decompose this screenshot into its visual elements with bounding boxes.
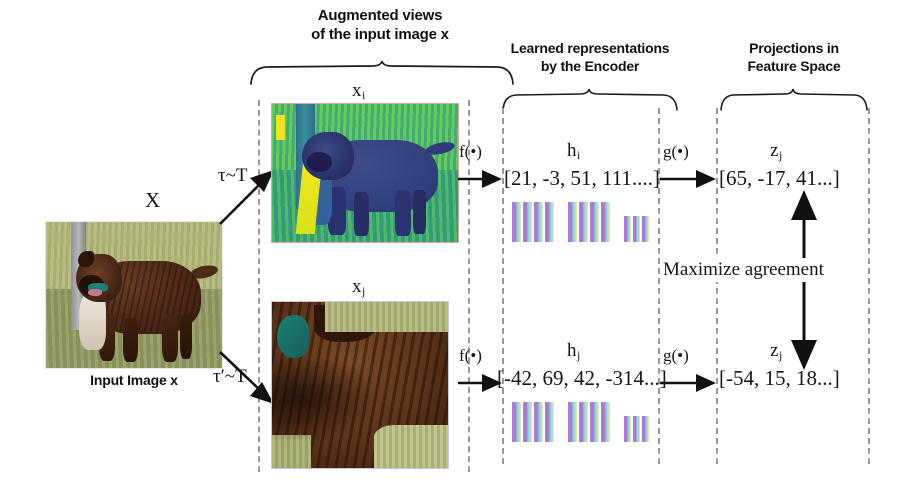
encoder-fn-label-bottom: f(•) — [459, 346, 482, 366]
encoder-block-group — [512, 202, 554, 242]
encoder-block — [601, 402, 610, 442]
augmented-view-bottom-grass-top — [325, 302, 448, 332]
view-top-symbol: xi — [352, 80, 365, 103]
h-bottom-vector: [-42, 69, 42, -314...] — [497, 366, 667, 391]
separator-line-6 — [868, 108, 870, 464]
encoder-block — [590, 202, 599, 242]
z-bottom-symbol: zj — [770, 340, 782, 363]
view-top-symbol-sub: i — [362, 89, 366, 102]
encoder-block — [545, 202, 554, 242]
view-bottom-symbol-sub: j — [362, 285, 366, 298]
augmented-view-top-dog-leg-3 — [395, 190, 412, 237]
encoder-block — [601, 202, 610, 242]
augmented-view-top-highlight-corner — [276, 115, 285, 140]
encoder-block — [568, 402, 577, 442]
encoder-block-group — [512, 402, 554, 442]
encoder-block — [633, 416, 640, 442]
projection-fn-label-top: g(•) — [663, 142, 689, 162]
encoder-block — [590, 402, 599, 442]
augmented-view-bottom-collar — [277, 315, 309, 358]
h-bottom-symbol: hj — [567, 340, 580, 363]
brace-augmented-views — [248, 60, 516, 86]
encoder-block — [523, 202, 532, 242]
input-image-caption: Input Image x — [46, 372, 222, 390]
encoder-block — [624, 216, 631, 242]
separator-line-5 — [716, 108, 718, 464]
figure-canvas: Augmented views of the input image x Lea… — [0, 0, 900, 502]
encoder-blocks-bottom — [512, 402, 649, 442]
input-image-dog-leg-rear2 — [180, 315, 192, 359]
encoder-block — [579, 202, 588, 242]
augmented-view-bottom-shading — [272, 355, 378, 441]
encoder-block — [642, 216, 649, 242]
input-symbol: X — [145, 188, 160, 213]
encoder-block-group — [568, 202, 610, 242]
view-bottom-symbol-base: x — [352, 276, 362, 297]
input-image-dog-leg-rear — [162, 315, 178, 362]
separator-line-4 — [658, 108, 660, 464]
projection-fn-label-bottom: g(•) — [663, 346, 689, 366]
transform-label-bottom: τ′~T — [213, 366, 247, 388]
h-top-symbol: hi — [567, 140, 580, 163]
view-top-symbol-base: x — [352, 80, 362, 101]
encoder-block-group — [624, 416, 649, 442]
encoder-block — [545, 402, 554, 442]
heading-augmented-views: Augmented views of the input image x — [248, 6, 512, 44]
augmented-view-top-dog-leg-2 — [354, 192, 369, 236]
encoder-arrow-top — [458, 170, 504, 188]
projection-arrow-top — [660, 170, 718, 188]
h-bottom-symbol-sub: j — [577, 349, 581, 362]
encoder-block — [534, 402, 543, 442]
augmented-view-top-dog-muzzle — [307, 152, 331, 171]
encoder-block — [512, 202, 521, 242]
separator-line-3 — [502, 108, 504, 464]
heading-projection-line2: Feature Space — [700, 58, 888, 76]
encoder-block — [642, 416, 649, 442]
view-bottom-symbol: xj — [352, 276, 365, 299]
maximize-agreement-label: Maximize agreement — [660, 258, 827, 282]
encoder-block — [624, 416, 631, 442]
augmented-view-bottom-grass-right — [374, 425, 448, 468]
encoder-block — [523, 402, 532, 442]
brace-encoder — [500, 88, 680, 112]
z-top-vector: [65, -17, 41...] — [719, 166, 840, 191]
projection-arrow-bottom — [660, 374, 718, 392]
h-bottom-symbol-base: h — [567, 340, 577, 361]
encoder-block — [534, 202, 543, 242]
input-image — [46, 222, 222, 368]
h-top-symbol-base: h — [567, 140, 577, 161]
input-image-dog-ear — [78, 251, 94, 267]
encoder-block — [579, 402, 588, 442]
encoder-block — [568, 202, 577, 242]
encoder-fn-label-top: f(•) — [459, 142, 482, 162]
heading-augmented-views-line2: of the input image x — [248, 25, 512, 44]
encoder-block-group — [568, 402, 610, 442]
encoder-block — [512, 402, 521, 442]
encoder-block — [633, 216, 640, 242]
h-top-symbol-sub: i — [577, 149, 581, 162]
heading-encoder-line1: Learned representations — [484, 40, 696, 58]
input-image-dog-leg-front2 — [123, 318, 137, 362]
z-top-symbol-sub: j — [778, 149, 782, 162]
heading-projections: Projections in Feature Space — [700, 40, 888, 76]
transform-label-top: τ~T — [218, 165, 248, 187]
heading-augmented-views-line1: Augmented views — [248, 6, 512, 25]
augmented-view-top — [272, 104, 458, 242]
augmented-view-bottom — [272, 302, 448, 468]
separator-line-1 — [258, 100, 260, 472]
encoder-blocks-top — [512, 202, 649, 242]
brace-projection — [718, 88, 870, 112]
h-top-vector: [21, -3, 51, 111....] — [504, 166, 660, 191]
heading-projection-line1: Projections in — [700, 40, 888, 58]
encoder-block-group — [624, 216, 649, 242]
z-top-symbol: zj — [770, 140, 782, 163]
augmented-view-top-dog-leg-4 — [413, 190, 426, 234]
z-bottom-symbol-sub: j — [778, 349, 782, 362]
